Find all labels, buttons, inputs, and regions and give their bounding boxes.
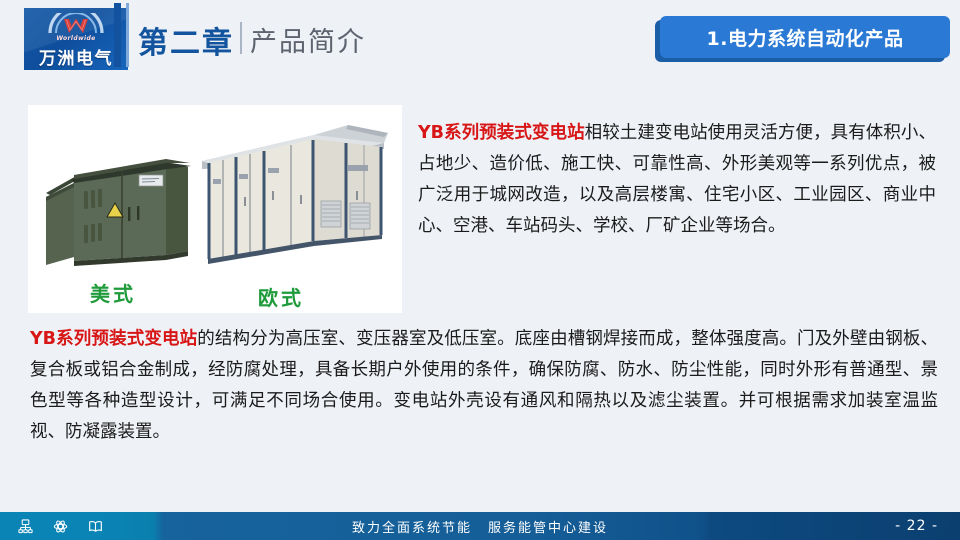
footer-slogan-right: 服务能管中心建设 bbox=[488, 517, 608, 536]
european-style-substation-photo bbox=[196, 113, 391, 298]
product-image-panel: 美式 欧式 bbox=[28, 105, 402, 313]
footer-corner-accent bbox=[938, 512, 960, 540]
title-separator bbox=[240, 22, 242, 54]
highlight-term-right: YB系列预装式变电站 bbox=[418, 123, 585, 143]
worldwide-w-arch-logo bbox=[24, 13, 128, 37]
logo-company-name: 万洲电气 bbox=[24, 44, 128, 69]
slide-root: Worldwide 万洲电气 第二章 产品简介 1.电力系统自动化产品 bbox=[0, 0, 960, 540]
section-banner-label: 1.电力系统自动化产品 bbox=[707, 24, 904, 51]
product-description-right: YB系列预装式变电站相较土建变电站使用灵活方便，具有体积小、占地少、造价低、施工… bbox=[418, 118, 936, 242]
chapter-label: 第二章 bbox=[138, 18, 234, 62]
highlight-term-bottom: YB系列预装式变电站 bbox=[30, 329, 197, 349]
slide-header: Worldwide 万洲电气 第二章 产品简介 1.电力系统自动化产品 bbox=[0, 0, 960, 86]
slide-footer: 致力全面系统节能 服务能管中心建设 - 22 - bbox=[0, 512, 960, 540]
product-description-bottom: YB系列预装式变电站的结构分为高压室、变压器室及低压室。底座由槽钢焊接而成，整体… bbox=[30, 324, 938, 448]
section-banner: 1.电力系统自动化产品 bbox=[660, 16, 950, 58]
caption-american-style: 美式 bbox=[90, 278, 136, 307]
logo-subtext: Worldwide bbox=[24, 35, 128, 42]
caption-european-style: 欧式 bbox=[258, 282, 304, 311]
footer-slogan: 致力全面系统节能 服务能管中心建设 bbox=[0, 512, 960, 540]
footer-slogan-left: 致力全面系统节能 bbox=[352, 517, 472, 536]
header-divider-thick bbox=[114, 3, 121, 67]
page-number: - 22 - bbox=[895, 512, 938, 540]
header-divider-thin bbox=[126, 3, 129, 67]
company-logo: Worldwide 万洲电气 bbox=[24, 8, 128, 70]
page-title: 产品简介 bbox=[250, 20, 366, 59]
